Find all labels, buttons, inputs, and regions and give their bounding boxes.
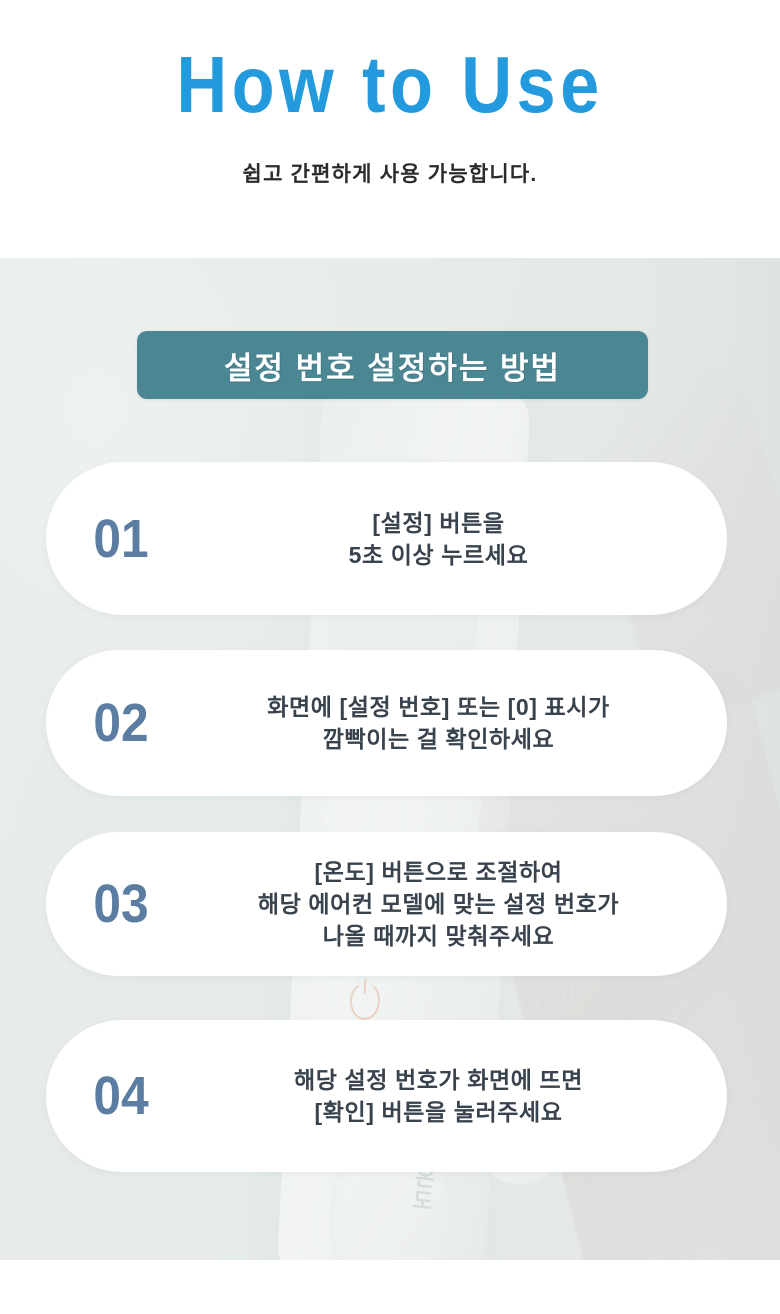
step-card: 04 해당 설정 번호가 화면에 뜨면 [확인] 버튼을 눌러주세요 bbox=[46, 1020, 727, 1172]
step-number: 03 bbox=[52, 877, 190, 931]
step-text-line: [설정] 버튼을 bbox=[196, 507, 681, 539]
section-banner-label: 설정 번호 설정하는 방법 bbox=[224, 343, 561, 388]
step-number: 04 bbox=[52, 1069, 190, 1123]
step-card: 01 [설정] 버튼을 5초 이상 누르세요 bbox=[46, 462, 727, 615]
step-text: 해당 설정 번호가 화면에 뜨면 [확인] 버튼을 눌러주세요 bbox=[196, 1064, 727, 1128]
how-to-use-page: How to Use 쉽고 간편하게 사용 가능합니다. 온도 확인 bbox=[0, 0, 780, 1314]
page-title: How to Use bbox=[47, 42, 733, 128]
step-text-line: 해당 에어컨 모델에 맞는 설정 번호가 bbox=[196, 888, 681, 920]
step-text-line: 5초 이상 누르세요 bbox=[196, 539, 681, 571]
step-text-line: [확인] 버튼을 눌러주세요 bbox=[196, 1096, 681, 1128]
step-card: 02 화면에 [설정 번호] 또는 [0] 표시가 깜빡이는 걸 확인하세요 bbox=[46, 650, 727, 796]
footer-strip bbox=[0, 1260, 780, 1314]
page-header: How to Use 쉽고 간편하게 사용 가능합니다. bbox=[0, 0, 780, 258]
section-banner: 설정 번호 설정하는 방법 bbox=[137, 331, 648, 399]
page-subtitle: 쉽고 간편하게 사용 가능합니다. bbox=[0, 160, 780, 190]
step-card: 03 [온도] 버튼으로 조절하여 해당 에어컨 모델에 맞는 설정 번호가 나… bbox=[46, 832, 727, 976]
step-text: 화면에 [설정 번호] 또는 [0] 표시가 깜빡이는 걸 확인하세요 bbox=[196, 691, 727, 755]
step-text-line: [온도] 버튼으로 조절하여 bbox=[196, 856, 681, 888]
step-number: 02 bbox=[52, 696, 190, 750]
step-text: [설정] 버튼을 5초 이상 누르세요 bbox=[196, 507, 727, 571]
step-number: 01 bbox=[52, 512, 190, 566]
step-text-line: 화면에 [설정 번호] 또는 [0] 표시가 bbox=[196, 691, 681, 723]
step-text-line: 깜빡이는 걸 확인하세요 bbox=[196, 723, 681, 755]
step-text: [온도] 버튼으로 조절하여 해당 에어컨 모델에 맞는 설정 번호가 나올 때… bbox=[196, 856, 727, 952]
step-text-line: 나올 때까지 맞춰주세요 bbox=[196, 920, 681, 952]
step-text-line: 해당 설정 번호가 화면에 뜨면 bbox=[196, 1064, 681, 1096]
